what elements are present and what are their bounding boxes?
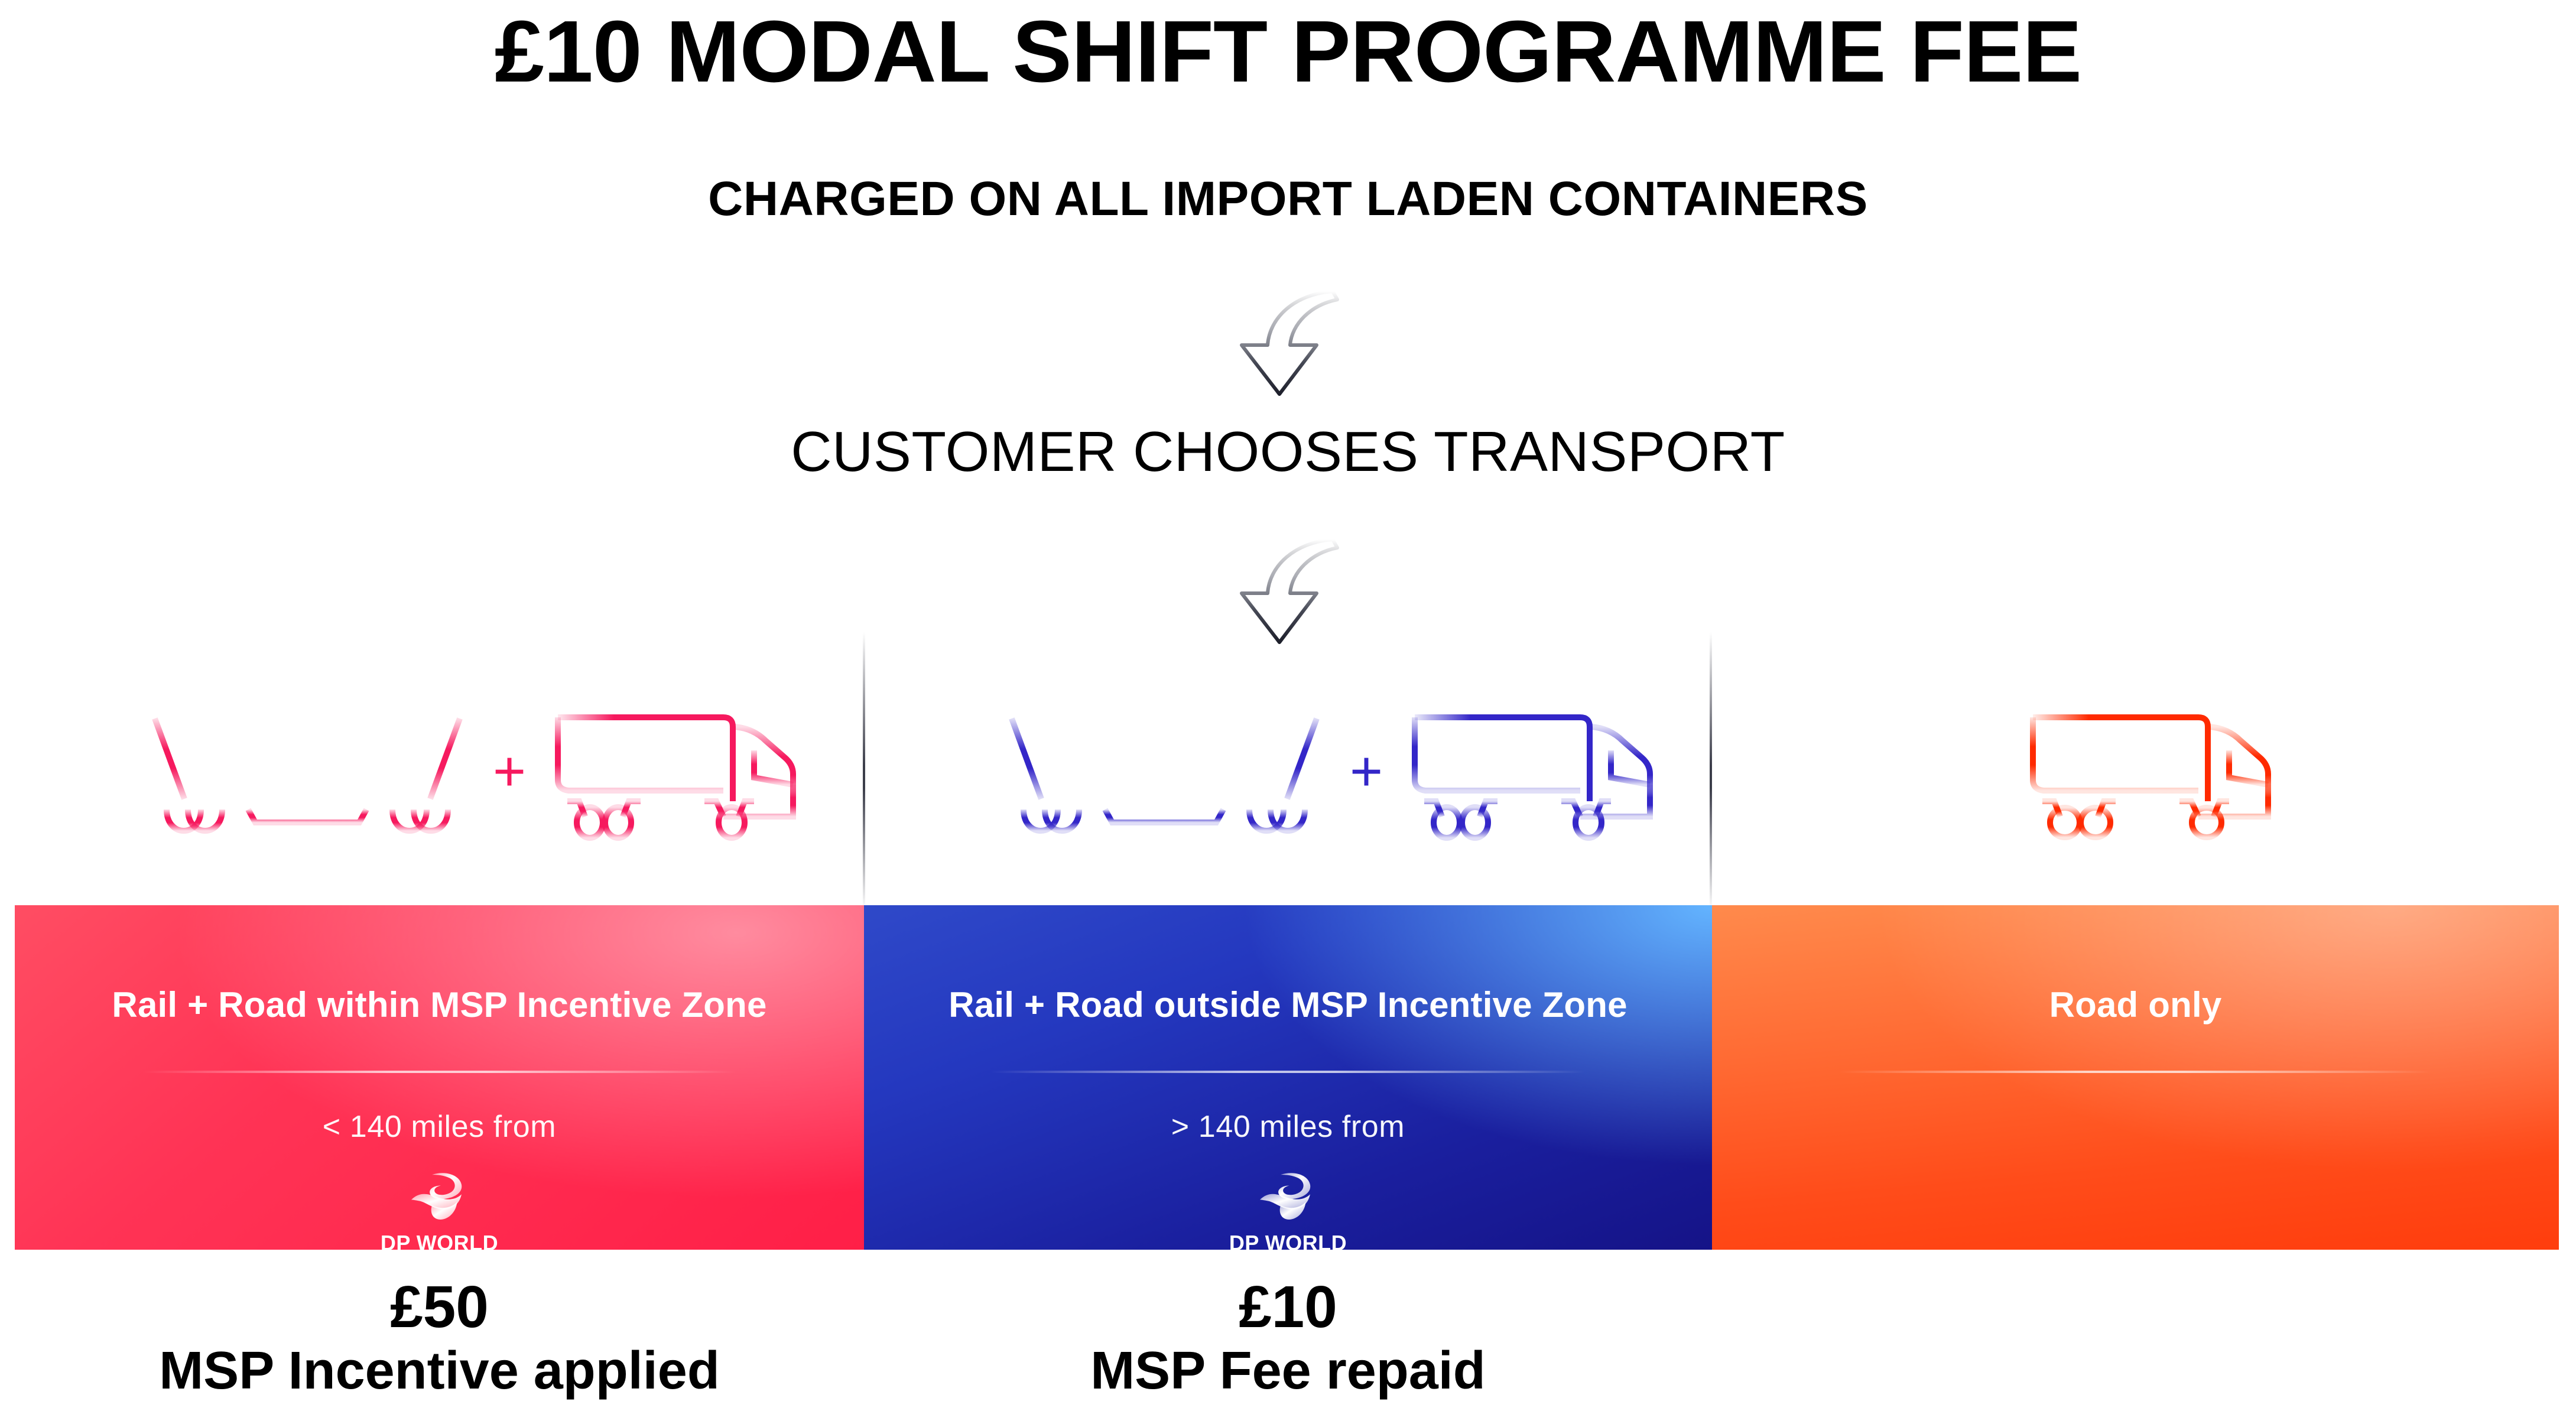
outcomes-row: £50 MSP Incentive applied £10 MSP Fee re… bbox=[15, 1276, 2559, 1400]
outcome-rail-road-outside: £10 MSP Fee repaid bbox=[864, 1276, 1712, 1400]
page-subtitle: CHARGED ON ALL IMPORT LADEN CONTAINERS bbox=[0, 171, 2576, 227]
divider-rule bbox=[1839, 1071, 2432, 1073]
option-heading: Rail + Road within MSP Incentive Zone bbox=[15, 984, 864, 1025]
outcome-label: MSP Incentive applied bbox=[15, 1342, 864, 1400]
outcome-label: MSP Fee repaid bbox=[864, 1342, 1712, 1400]
dp-world-logo: DP WORLD bbox=[864, 1168, 1712, 1250]
dp-world-swoosh-icon bbox=[407, 1168, 473, 1225]
curved-down-arrow-icon-2 bbox=[1211, 520, 1389, 650]
truck-icon bbox=[1403, 691, 1698, 845]
divider-rule bbox=[142, 1071, 737, 1073]
curved-down-arrow-icon-1 bbox=[1211, 272, 1389, 402]
option-heading: Rail + Road outside MSP Incentive Zone bbox=[864, 984, 1712, 1025]
plus-symbol: + bbox=[1350, 743, 1383, 800]
icon-group-rail-road-outside: + bbox=[999, 691, 1698, 845]
outcome-road-only bbox=[1712, 1276, 2559, 1400]
divider-rule bbox=[991, 1071, 1585, 1073]
option-panel-road-only[interactable]: Road only bbox=[1712, 905, 2559, 1250]
rail-wagon-icon bbox=[999, 691, 1330, 845]
option-heading: Road only bbox=[1712, 984, 2559, 1025]
outcome-rail-road-within: £50 MSP Incentive applied bbox=[15, 1276, 864, 1400]
customer-choice-heading: CUSTOMER CHOOSES TRANSPORT bbox=[0, 420, 2576, 485]
outcome-amount: £50 bbox=[15, 1276, 864, 1338]
option-distance-note: > 140 miles from bbox=[864, 1109, 1712, 1145]
dp-world-logo: DP WORLD bbox=[15, 1168, 864, 1250]
truck-icon bbox=[2021, 691, 2317, 845]
outcome-amount: £10 bbox=[864, 1276, 1712, 1338]
icon-group-road-only bbox=[2021, 691, 2317, 845]
dp-world-logo-text: DP WORLD bbox=[381, 1231, 498, 1250]
option-panel-rail-road-within[interactable]: Rail + Road within MSP Incentive Zone < … bbox=[15, 905, 864, 1250]
page-title: £10 MODAL SHIFT PROGRAMME FEE bbox=[0, 6, 2576, 97]
option-distance-note: < 140 miles from bbox=[15, 1109, 864, 1145]
transport-icons-row: + bbox=[0, 680, 2576, 874]
option-panel-rail-road-outside[interactable]: Rail + Road outside MSP Incentive Zone >… bbox=[864, 905, 1712, 1250]
dp-world-logo-text: DP WORLD bbox=[1229, 1231, 1347, 1250]
icon-group-rail-road-within: + bbox=[142, 691, 842, 845]
plus-symbol: + bbox=[493, 743, 526, 800]
dp-world-swoosh-icon bbox=[1255, 1168, 1321, 1225]
options-band: Rail + Road within MSP Incentive Zone < … bbox=[15, 905, 2559, 1250]
rail-wagon-icon bbox=[142, 691, 473, 845]
truck-icon bbox=[546, 691, 842, 845]
